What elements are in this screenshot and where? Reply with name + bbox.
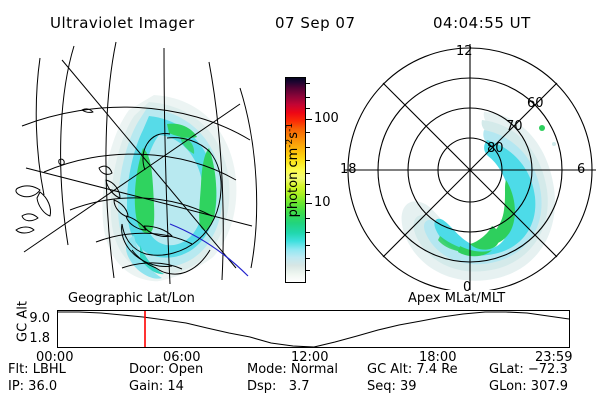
colorbar-axis-exponent-2: -1 xyxy=(285,123,295,132)
colorbar-minor-tick xyxy=(306,218,310,219)
colorbar-minor-tick xyxy=(306,160,310,161)
altitude-curve xyxy=(58,312,569,347)
mlt-label-18: 18 xyxy=(340,162,357,177)
altitude-ytick-bottom: 1.8 xyxy=(16,331,50,346)
instrument-title: Ultraviolet Imager xyxy=(50,14,195,32)
colorbar-minor-tick xyxy=(306,147,310,148)
colorbar-minor-tick xyxy=(306,184,310,185)
header-bar: Ultraviolet Imager 07 Sep 07 04:04:55 UT xyxy=(0,6,600,30)
status-mode: Mode: Normal xyxy=(247,362,338,377)
status-gc-alt: GC Alt: 7.4 Re xyxy=(367,362,458,377)
status-filter: Flt: LBHL xyxy=(8,362,66,377)
status-row-1: Flt: LBHL Door: Open Mode: Normal GC Alt… xyxy=(0,362,600,378)
status-gain: Gain: 14 xyxy=(129,379,184,394)
mlat-label-60: 60 xyxy=(527,96,544,111)
colorbar-minor-tick xyxy=(306,132,310,133)
uvi-image-window: Ultraviolet Imager 07 Sep 07 04:04:55 UT xyxy=(0,0,600,400)
geographic-map-svg xyxy=(4,40,266,290)
colorbar-minor-tick xyxy=(306,270,310,271)
magnetic-dial-panel[interactable]: 12 18 6 0 60 70 80 xyxy=(332,40,596,290)
status-block: Flt: LBHL Door: Open Mode: Normal GC Alt… xyxy=(0,362,600,398)
geographic-map-panel[interactable] xyxy=(4,40,266,290)
colorbar-minor-tick xyxy=(306,83,310,84)
colorbar-axis-title-mid: s xyxy=(286,132,301,139)
mlat-label-70: 70 xyxy=(506,119,523,134)
colorbar-tick-10 xyxy=(306,203,312,204)
observation-time: 04:04:55 UT xyxy=(433,14,531,32)
colorbar-axis-title: photon cm-2s-1 xyxy=(285,85,301,255)
colorbar-axis-title-main: photon cm xyxy=(286,148,301,218)
altitude-plot-area[interactable] xyxy=(57,310,570,348)
altitude-plot-svg xyxy=(58,311,569,347)
colorbar-minor-tick xyxy=(306,108,310,109)
colorbar-label-10: 10 xyxy=(314,195,331,210)
aurora-emission-magnetic xyxy=(402,112,556,281)
status-glat: GLat: −72.3 xyxy=(489,362,568,377)
colorbar-minor-tick xyxy=(306,245,310,246)
altitude-ytick-top: 9.0 xyxy=(16,311,50,326)
colorbar-minor-tick xyxy=(306,194,310,195)
status-dsp: Dsp: 3.7 xyxy=(247,379,310,394)
magnetic-dial-svg xyxy=(332,40,596,290)
altitude-strip-chart[interactable]: GC Alt 9.0 1.8 00:00 06:00 12:00 18:00 2… xyxy=(0,300,600,358)
mlt-label-6: 6 xyxy=(577,162,585,177)
mlat-label-80: 80 xyxy=(487,141,504,156)
status-seq: Seq: 39 xyxy=(367,379,417,394)
status-glon: GLon: 307.9 xyxy=(489,379,568,394)
colorbar-group: 100 10 photon cm-2s-1 xyxy=(268,70,330,295)
colorbar-axis-exponent-1: -2 xyxy=(285,139,295,148)
colorbar-minor-tick xyxy=(306,97,310,98)
colorbar-minor-tick xyxy=(306,258,310,259)
magnetic-local-time-spokes xyxy=(344,44,596,290)
colorbar-minor-tick xyxy=(306,232,310,233)
status-ip: IP: 36.0 xyxy=(8,379,57,394)
status-row-2: IP: 36.0 Gain: 14 Dsp: 3.7 Seq: 39 GLon:… xyxy=(0,379,600,395)
observation-date: 07 Sep 07 xyxy=(275,14,355,32)
mlt-label-12: 12 xyxy=(456,44,473,59)
status-door: Door: Open xyxy=(129,362,203,377)
colorbar-minor-tick xyxy=(306,173,310,174)
colorbar-tick-100 xyxy=(306,119,312,120)
